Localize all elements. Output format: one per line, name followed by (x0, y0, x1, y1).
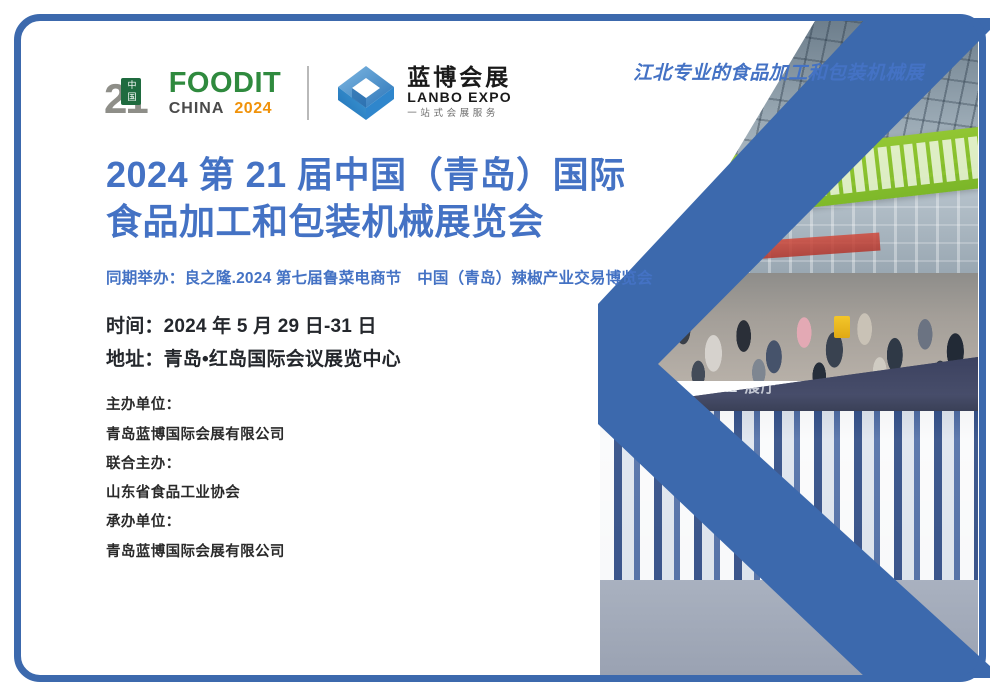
hall-number-cn: 展厅 (745, 379, 777, 396)
organizer-value-1: 山东省食品工业协会 (106, 479, 706, 508)
lanbo-slogan: 一站式会展服务 (407, 107, 512, 121)
foodit-brand: FOODIT (169, 69, 282, 98)
page-title: 2024 第 21 届中国（青岛）国际 食品加工和包装机械展览会 (106, 152, 706, 246)
organizer-list: 主办单位： 青岛蓝博国际会展有限公司 联合主办： 山东省食品工业协会 承办单位：… (106, 391, 706, 567)
event-time-label: 时间： (106, 316, 164, 337)
event-meta: 时间：2024 年 5 月 29 日-31 日 地址：青岛•红岛国际会议展览中心 (106, 310, 706, 378)
foodit-seal-char-2: 国 (121, 91, 141, 103)
title-line-1: 2024 第 21 届中国（青岛）国际 (106, 152, 706, 199)
tagline: 江北专业的食品加工和包装机械展 (633, 58, 924, 85)
foodit-logo: 21 中 国 FOODIT CHINA 2024 (104, 69, 281, 118)
foodit-country: CHINA (169, 100, 225, 118)
event-time-value: 2024 年 5 月 29 日-31 日 (164, 316, 377, 337)
title-line-2: 食品加工和包装机械展览会 (106, 199, 706, 246)
lanbo-name-cn: 蓝博会展 (407, 65, 512, 89)
logo-divider (307, 66, 309, 120)
foodit-wordmark: FOODIT CHINA 2024 (169, 69, 282, 118)
logo-row: 21 中 国 FOODIT CHINA 2024 (104, 64, 512, 122)
organizer-label-0: 主办单位： (106, 391, 706, 420)
event-address-row: 地址：青岛•红岛国际会议展览中心 (106, 343, 706, 377)
lanbo-diamond-icon (335, 64, 397, 122)
main-copy: 2024 第 21 届中国（青岛）国际 食品加工和包装机械展览会 同期举办：良之… (106, 152, 706, 567)
foodit-subline: CHINA 2024 (169, 100, 282, 118)
foodit-year: 2024 (234, 100, 272, 118)
lanbo-wordmark: 蓝博会展 LANBO EXPO 一站式会展服务 (407, 65, 512, 121)
photo-shopping-bag (834, 316, 850, 338)
event-time-row: 时间：2024 年 5 月 29 日-31 日 (106, 310, 706, 344)
poster-root: A1展厅 21 中 国 FOODIT (0, 0, 1000, 696)
organizer-value-2: 青岛蓝博国际会展有限公司 (106, 538, 706, 567)
subtitle-concurrent-events: 同期举办：良之隆.2024 第七届鲁菜电商节 中国（青岛）辣椒产业交易博览会 (106, 266, 706, 288)
organizer-label-1: 联合主办： (106, 450, 706, 479)
foodit-edition-number: 21 中 国 (104, 80, 147, 118)
event-address-label: 地址： (106, 349, 164, 370)
event-address-value: 青岛•红岛国际会议展览中心 (164, 349, 401, 370)
foodit-china-seal-icon: 中 国 (121, 78, 141, 105)
lanbo-logo: 蓝博会展 LANBO EXPO 一站式会展服务 (335, 64, 512, 122)
lanbo-name-en: LANBO EXPO (407, 89, 512, 107)
organizer-value-0: 青岛蓝博国际会展有限公司 (106, 421, 706, 450)
organizer-label-2: 承办单位： (106, 508, 706, 537)
foodit-seal-char-1: 中 (121, 79, 141, 91)
